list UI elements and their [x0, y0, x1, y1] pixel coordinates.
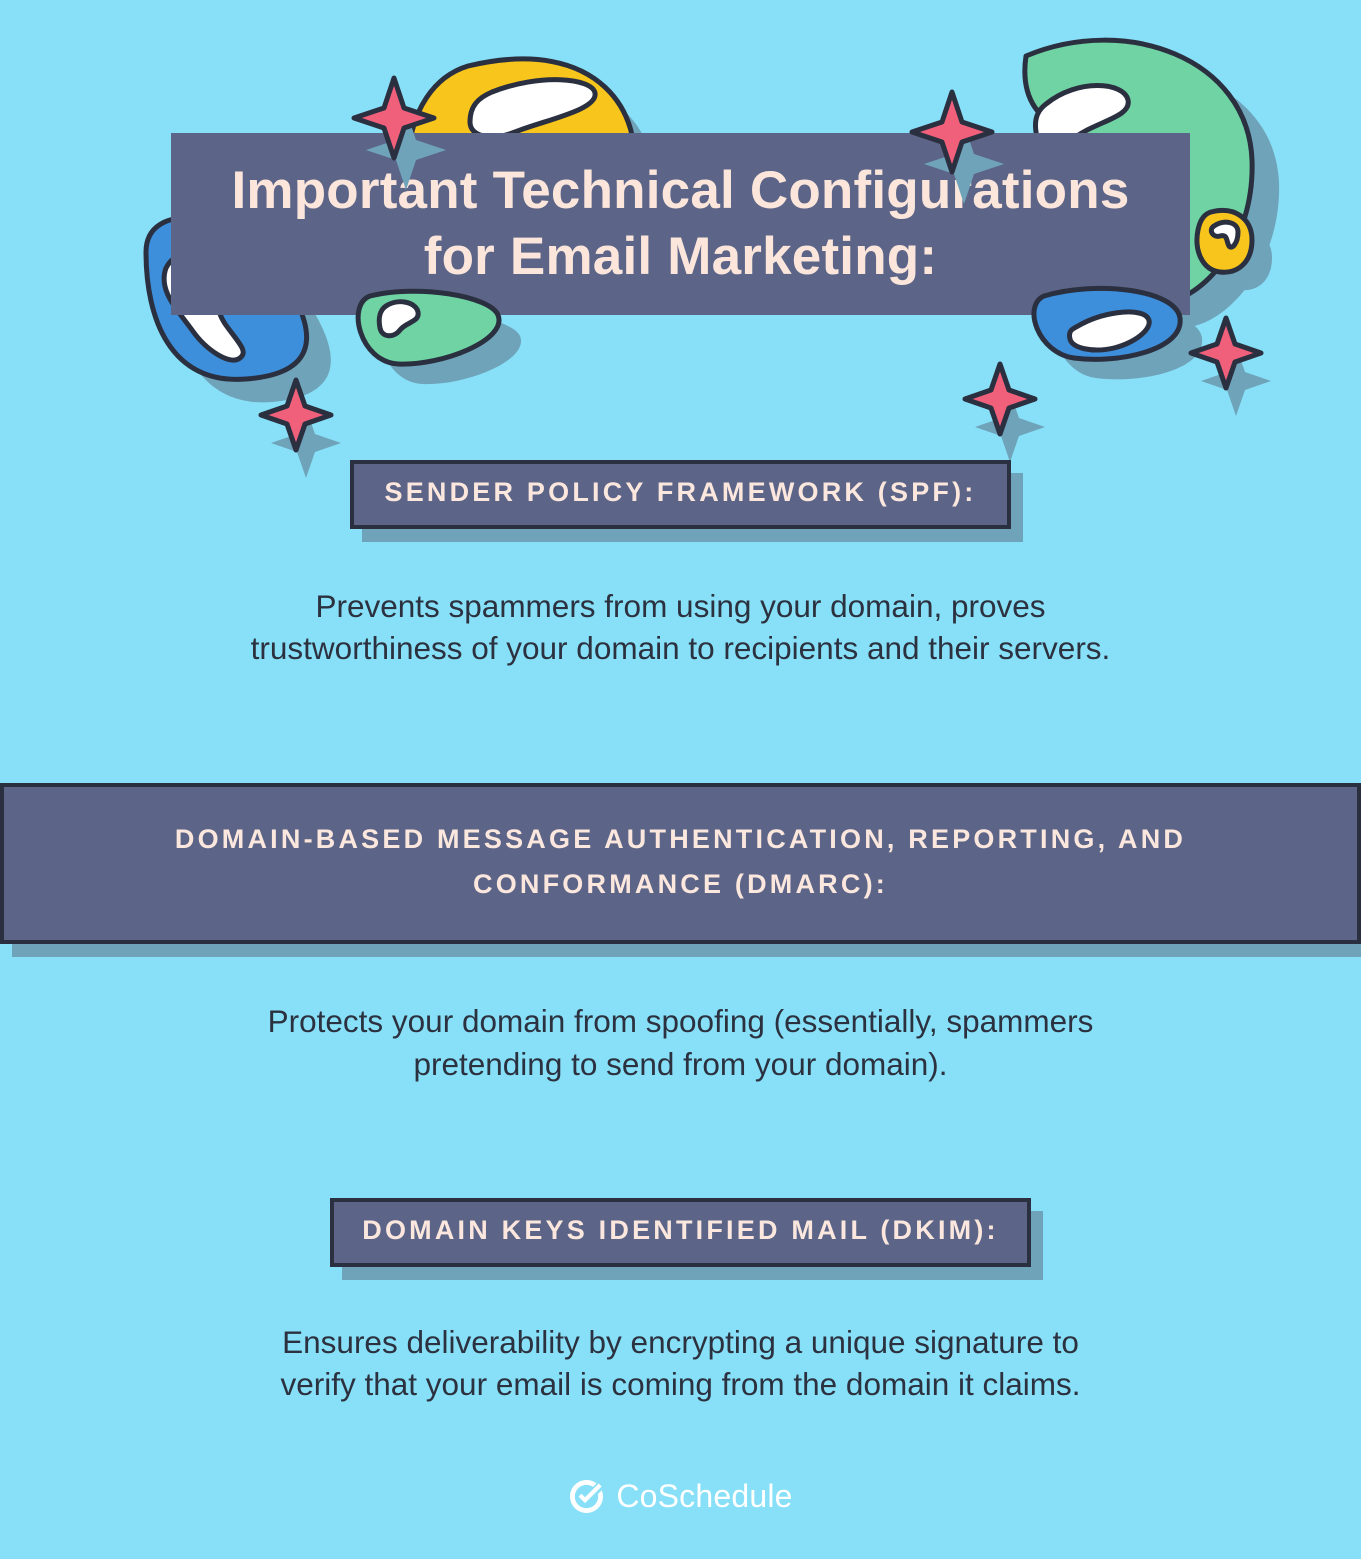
- dmarc-body-text: Protects your domain from spoofing (esse…: [268, 1000, 1094, 1085]
- infographic-canvas: Important Technical Configurations for E…: [0, 0, 1361, 1559]
- section-dkim: DOMAIN KEYS IDENTIFIED MAIL (DKIM): Ensu…: [0, 1198, 1361, 1437]
- check-circle-icon: [568, 1478, 605, 1515]
- spf-heading-wrap: SENDER POLICY FRAMEWORK (SPF):: [350, 460, 1010, 529]
- section-dmarc: DOMAIN-BASED MESSAGE AUTHENTICATION, REP…: [0, 783, 1361, 1117]
- footer-brand-logo: CoSchedule: [0, 1478, 1361, 1515]
- sparkle-star-bottom-right: [1191, 318, 1271, 416]
- spf-body-text: Prevents spammers from using your domain…: [251, 585, 1111, 670]
- brand-name: CoSchedule: [616, 1478, 792, 1515]
- yellow-blob-small-right: [1197, 210, 1252, 272]
- sparkle-star-bottom-center: [965, 364, 1045, 462]
- dkim-body-text: Ensures deliverability by encrypting a u…: [280, 1321, 1080, 1406]
- section-spf: SENDER POLICY FRAMEWORK (SPF): Prevents …: [0, 460, 1361, 701]
- page-title: Important Technical Configurations for E…: [205, 158, 1155, 291]
- spf-heading: SENDER POLICY FRAMEWORK (SPF):: [350, 460, 1010, 529]
- dmarc-heading-wrap: DOMAIN-BASED MESSAGE AUTHENTICATION, REP…: [0, 783, 1361, 944]
- hero-title-panel: Important Technical Configurations for E…: [171, 133, 1190, 315]
- dkim-heading: DOMAIN KEYS IDENTIFIED MAIL (DKIM):: [330, 1198, 1030, 1267]
- dkim-heading-wrap: DOMAIN KEYS IDENTIFIED MAIL (DKIM):: [330, 1198, 1030, 1267]
- dmarc-heading: DOMAIN-BASED MESSAGE AUTHENTICATION, REP…: [0, 783, 1361, 944]
